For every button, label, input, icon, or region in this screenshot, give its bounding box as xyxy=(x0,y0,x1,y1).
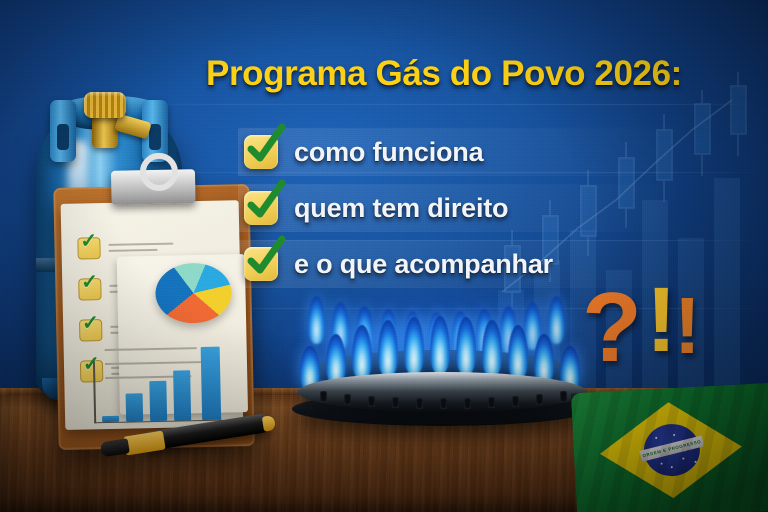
placeholder-lines xyxy=(108,239,173,256)
bar xyxy=(173,370,191,420)
clipboard: ✓ ✓ ✓ ✓ xyxy=(53,184,254,450)
checkmark-glyph xyxy=(246,125,286,167)
list-item-label: e o que acompanhar xyxy=(294,249,553,279)
page-title: Programa Gás do Povo 2026: xyxy=(206,54,746,94)
pen-grip xyxy=(123,431,165,456)
checkmark-glyph xyxy=(246,237,286,279)
cylinder-handle-left xyxy=(50,100,76,162)
question-exclamation-group: ? ! ! xyxy=(582,278,712,382)
burner-slots xyxy=(298,382,586,404)
question-mark-icon: ? xyxy=(582,278,642,376)
bar xyxy=(149,380,167,420)
list-item-label: como funciona xyxy=(294,137,483,167)
bar-chart-y-axis xyxy=(93,361,96,423)
check-icon xyxy=(244,191,278,225)
valve-stem xyxy=(92,114,118,148)
valve-knob-icon xyxy=(84,92,126,118)
bar xyxy=(102,415,119,421)
check-icon: ✓ xyxy=(79,319,102,341)
bar xyxy=(201,346,222,419)
list-item: e o que acompanhar xyxy=(244,236,744,292)
list-item: quem tem direito xyxy=(244,180,744,236)
list-item: como funciona xyxy=(244,124,744,180)
check-icon: ✓ xyxy=(78,278,101,300)
bar-chart xyxy=(83,344,235,423)
checkmark-glyph xyxy=(246,181,286,223)
clipboard-clamp xyxy=(111,169,196,205)
pen-tip xyxy=(100,438,130,457)
list-item-label: quem tem direito xyxy=(294,193,508,223)
poster-canvas: ✓ ✓ ✓ ✓ xyxy=(0,0,768,512)
gas-burner xyxy=(292,296,592,428)
brazil-flag: ORDEM E PROGRESSO xyxy=(571,383,768,512)
check-icon: ✓ xyxy=(77,237,100,259)
exclamation-mark-icon-2: ! xyxy=(674,286,701,366)
check-icon xyxy=(244,247,278,281)
flag-fabric-shading xyxy=(571,383,768,512)
bar xyxy=(126,393,144,421)
benefit-list: como funciona quem tem direito e o que a… xyxy=(244,124,744,292)
check-icon xyxy=(244,135,278,169)
